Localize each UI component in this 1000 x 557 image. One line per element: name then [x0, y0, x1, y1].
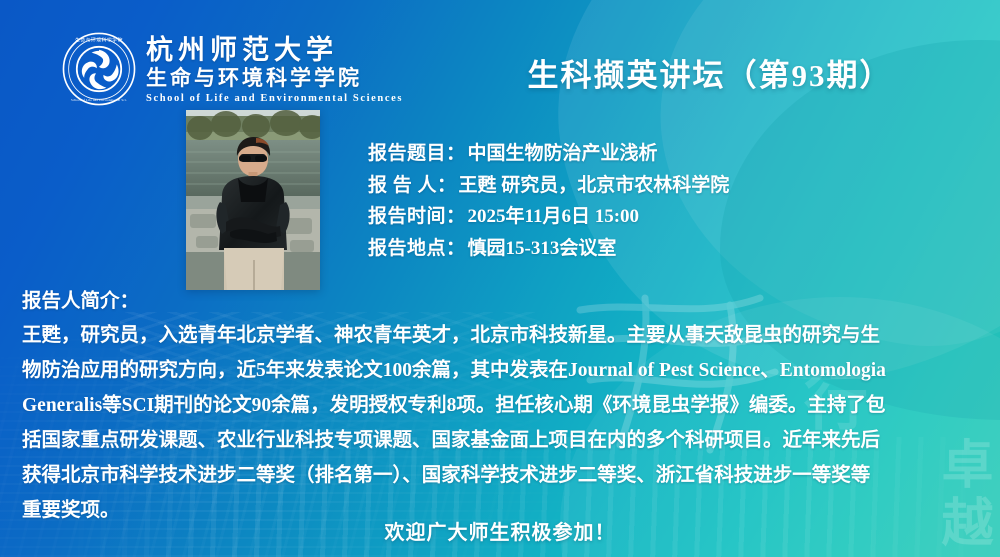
info-value-location: 慎园15-313会议室	[468, 233, 617, 265]
bio-line: 括国家重点研发课题、农业行业科技专项课题、国家基金面上项目在内的多个科研项目。近…	[22, 423, 984, 458]
speaker-bio-block: 报告人简介： 王甦，研究员，入选青年北京学者、神农青年英才，北京市科技新星。主要…	[22, 285, 984, 528]
info-value-topic: 中国生物防治产业浅析	[468, 138, 658, 170]
seminar-poster: 行 卓越 生命与环境科学学院 School of Life and Enviro…	[0, 0, 1000, 557]
school-name-en: School of Life and Environmental Science…	[146, 93, 403, 104]
poster-header: 生命与环境科学学院 School of Life and Environment…	[0, 0, 1000, 115]
bio-line: 王甦，研究员，入选青年北京学者、神农青年英才，北京市科技新星。主要从事天敌昆虫的…	[22, 318, 984, 353]
info-label-location: 报告地点：	[368, 233, 466, 265]
university-logo-block: 生命与环境科学学院 School of Life and Environment…	[62, 32, 403, 106]
university-circular-emblem: 生命与环境科学学院 School of Life and Environment…	[62, 32, 136, 106]
info-label-topic: 报告题目：	[368, 138, 466, 170]
lecture-info-block: 报告题目： 中国生物防治产业浅析 报 告 人： 王甦 研究员，北京市农林科学院 …	[368, 138, 968, 264]
info-value-speaker: 王甦 研究员，北京市农林科学院	[459, 170, 730, 202]
info-row-location: 报告地点： 慎园15-313会议室	[368, 233, 968, 265]
school-name-cn: 生命与环境科学学院	[146, 65, 403, 91]
poster-title: 生科撷英讲坛（第93期）	[500, 50, 920, 95]
info-label-speaker: 报 告 人：	[368, 170, 457, 202]
info-label-time: 报告时间：	[368, 201, 466, 233]
university-name-cn: 杭州师范大学	[146, 35, 403, 65]
info-row-topic: 报告题目： 中国生物防治产业浅析	[368, 138, 968, 170]
info-row-speaker: 报 告 人： 王甦 研究员，北京市农林科学院	[368, 170, 968, 202]
footer-invitation: 欢迎广大师生积极参加！	[0, 516, 1000, 545]
bio-line: Generalis等SCI期刊的论文90余篇，发明授权专利8项。担任核心期《环境…	[22, 388, 984, 423]
bio-heading: 报告人简介：	[22, 285, 984, 318]
bio-line: 物防治应用的研究方向，近5年来发表论文100余篇，其中发表在Journal of…	[22, 353, 984, 388]
speaker-photo	[186, 110, 320, 290]
bio-line: 获得北京市科学技术进步二等奖（排名第一）、国家科学技术进步二等奖、浙江省科技进步…	[22, 458, 984, 493]
svg-text:School of Life and Environment: School of Life and Environmental Sci.	[71, 98, 127, 102]
info-value-time: 2025年11月6日 15:00	[468, 201, 640, 233]
info-row-time: 报告时间： 2025年11月6日 15:00	[368, 201, 968, 233]
school-name-block: 杭州师范大学 生命与环境科学学院 School of Life and Envi…	[146, 35, 403, 104]
